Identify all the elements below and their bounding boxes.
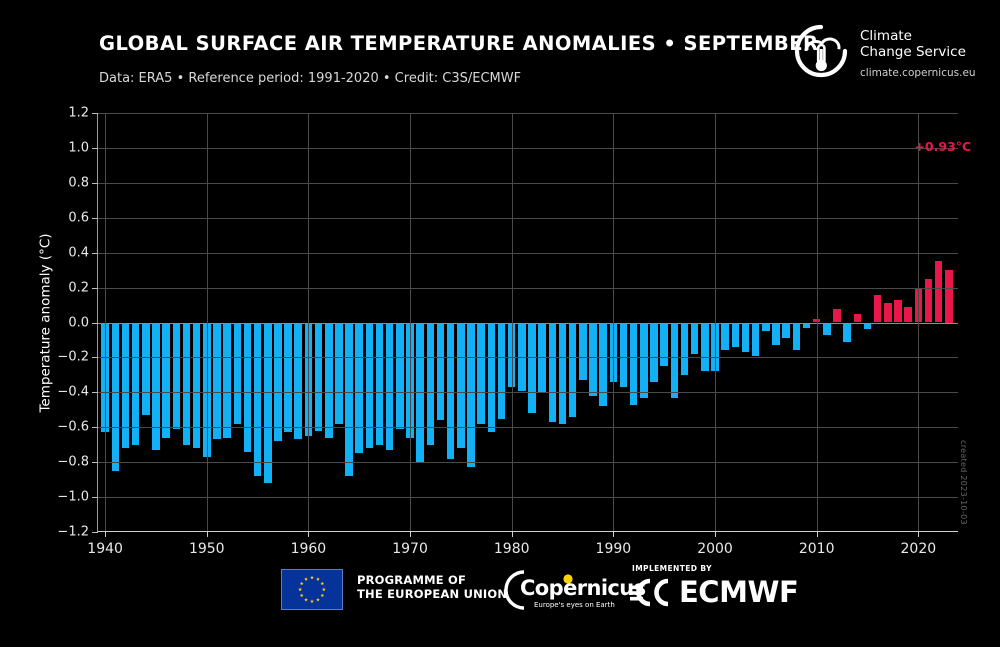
- bar-1995: [660, 323, 668, 367]
- x-tick-label: 1990: [596, 541, 632, 557]
- bar-1945: [152, 323, 160, 450]
- bar-1978: [488, 323, 496, 433]
- bar-1944: [142, 323, 150, 416]
- x-tick-mark: [207, 531, 208, 537]
- y-tick-mark: [92, 288, 98, 289]
- bar-1996: [671, 323, 679, 398]
- bar-1989: [599, 323, 607, 407]
- bar-1962: [325, 323, 333, 438]
- bar-1949: [193, 323, 201, 449]
- bar-2006: [772, 323, 780, 346]
- y-gridline: [98, 427, 958, 428]
- bar-1942: [122, 323, 130, 449]
- x-tick-mark: [613, 531, 614, 537]
- y-tick-label: −0.6: [57, 420, 89, 435]
- y-tick-mark: [92, 218, 98, 219]
- bar-2015: [864, 323, 872, 330]
- bar-2017: [884, 303, 892, 322]
- y-tick-mark: [92, 427, 98, 428]
- bar-1961: [315, 323, 323, 431]
- y-gridline: [98, 113, 958, 114]
- x-gridline: [613, 113, 614, 531]
- y-gridline: [98, 183, 958, 184]
- y-tick-mark: [92, 392, 98, 393]
- bar-1986: [569, 323, 577, 417]
- bar-1957: [274, 323, 282, 442]
- x-tick-label: 2000: [697, 541, 733, 557]
- y-tick-mark: [92, 532, 98, 533]
- x-tick-mark: [512, 531, 513, 537]
- bar-2019: [904, 307, 912, 323]
- eu-programme-line2: THE EUROPEAN UNION: [357, 587, 507, 601]
- c3s-logo-line1: Climate: [860, 28, 966, 44]
- y-gridline: [98, 392, 958, 393]
- eu-stars-icon: [282, 570, 342, 609]
- y-gridline: [98, 462, 958, 463]
- bar-2002: [732, 323, 740, 347]
- x-gridline: [105, 113, 106, 531]
- bar-1994: [650, 323, 658, 382]
- created-stamp: created 2023-10-03: [959, 440, 968, 525]
- x-tick-label: 2020: [901, 541, 937, 557]
- eu-programme-line1: PROGRAMME OF: [357, 573, 507, 587]
- y-tick-mark: [92, 253, 98, 254]
- climate-anomaly-chart: GLOBAL SURFACE AIR TEMPERATURE ANOMALIES…: [0, 0, 1000, 647]
- x-gridline: [512, 113, 513, 531]
- y-tick-label: −0.2: [57, 350, 89, 365]
- x-gridline: [817, 113, 818, 531]
- page-title: GLOBAL SURFACE AIR TEMPERATURE ANOMALIES…: [99, 32, 818, 55]
- y-tick-label: 0.6: [68, 210, 89, 225]
- bar-2001: [721, 323, 729, 351]
- bar-2012: [833, 309, 841, 323]
- plot-area: 1.21.00.80.60.40.20.0−0.2−0.4−0.6−0.8−1.…: [97, 113, 958, 532]
- chart-subtitle: Data: ERA5 • Reference period: 1991-2020…: [99, 71, 521, 86]
- bar-1946: [162, 323, 170, 438]
- bar-1997: [681, 323, 689, 375]
- bar-2018: [894, 300, 902, 323]
- cloud-thermometer-icon: [790, 20, 852, 82]
- bar-1984: [549, 323, 557, 423]
- bar-1987: [579, 323, 587, 381]
- bar-1975: [457, 323, 465, 449]
- bar-1963: [335, 323, 343, 424]
- eu-programme-text: PROGRAMME OF THE EUROPEAN UNION: [357, 573, 507, 601]
- bar-1959: [294, 323, 302, 440]
- y-tick-mark: [92, 183, 98, 184]
- ecmwf-mark-icon: [630, 577, 676, 608]
- x-tick-label: 2010: [799, 541, 835, 557]
- bar-2011: [823, 323, 831, 335]
- eu-flag-icon: [281, 569, 343, 610]
- bar-2004: [752, 323, 760, 356]
- bar-1952: [223, 323, 231, 438]
- y-tick-label: −1.0: [57, 490, 89, 505]
- bar-1947: [173, 323, 181, 429]
- x-gridline: [918, 113, 919, 531]
- y-tick-mark: [92, 323, 98, 324]
- bar-2005: [762, 323, 770, 332]
- x-gridline: [207, 113, 208, 531]
- bar-2008: [793, 323, 801, 351]
- bar-1976: [467, 323, 475, 468]
- y-tick-label: −0.4: [57, 385, 89, 400]
- bar-1964: [345, 323, 353, 477]
- x-tick-mark: [715, 531, 716, 537]
- x-tick-label: 1980: [494, 541, 530, 557]
- bar-2023: [945, 270, 953, 322]
- y-gridline: [98, 253, 958, 254]
- bar-1968: [386, 323, 394, 450]
- y-gridline: [98, 288, 958, 289]
- y-gridline: [98, 323, 958, 324]
- ecmwf-row: ECMWF: [630, 575, 798, 609]
- copernicus-name: Copernicus: [520, 576, 646, 600]
- x-gridline: [715, 113, 716, 531]
- x-tick-mark: [105, 531, 106, 537]
- y-tick-mark: [92, 113, 98, 114]
- y-tick-label: 0.8: [68, 175, 89, 190]
- bar-1988: [589, 323, 597, 396]
- c3s-logo-url: climate.copernicus.eu: [860, 67, 976, 79]
- peak-annotation: +0.93°C: [914, 139, 971, 154]
- bar-1991: [620, 323, 628, 388]
- y-tick-mark: [92, 497, 98, 498]
- x-gridline: [308, 113, 309, 531]
- x-tick-mark: [918, 531, 919, 537]
- c3s-logo: Climate Change Service climate.copernicu…: [790, 20, 990, 92]
- y-tick-label: −1.2: [57, 525, 89, 540]
- bar-1966: [366, 323, 374, 449]
- y-tick-label: 0.0: [68, 315, 89, 330]
- implemented-by-label: IMPLEMENTED BY: [632, 564, 798, 573]
- bar-1993: [640, 323, 648, 398]
- bar-2014: [854, 314, 862, 323]
- x-tick-label: 1950: [189, 541, 225, 557]
- y-tick-mark: [92, 148, 98, 149]
- bar-1958: [284, 323, 292, 433]
- y-tick-mark: [92, 462, 98, 463]
- bar-1979: [498, 323, 506, 419]
- bar-1982: [528, 323, 536, 414]
- bar-1974: [447, 323, 455, 459]
- y-gridline: [98, 497, 958, 498]
- y-axis-label: Temperature anomaly (°C): [36, 113, 56, 532]
- copernicus-tagline: Europe's eyes on Earth: [534, 601, 615, 609]
- x-tick-label: 1970: [392, 541, 428, 557]
- x-tick-mark: [817, 531, 818, 537]
- bar-1956: [264, 323, 272, 484]
- bar-2022: [935, 261, 943, 322]
- x-gridline: [410, 113, 411, 531]
- bar-1954: [244, 323, 252, 452]
- bar-1953: [234, 323, 242, 424]
- y-axis-label-text: Temperature anomaly (°C): [38, 233, 54, 412]
- bar-2003: [742, 323, 750, 353]
- y-gridline: [98, 148, 958, 149]
- bar-1951: [213, 323, 221, 440]
- y-tick-label: 0.2: [68, 280, 89, 295]
- footer: PROGRAMME OF THE EUROPEAN UNION Copernic…: [0, 562, 1000, 614]
- x-tick-label: 1940: [87, 541, 123, 557]
- bar-2021: [925, 279, 933, 323]
- bar-1973: [437, 323, 445, 421]
- ecmwf-logo: IMPLEMENTED BY ECMWF: [630, 564, 798, 609]
- bar-1969: [396, 323, 404, 429]
- c3s-logo-line2: Change Service: [860, 44, 966, 60]
- bar-1977: [477, 323, 485, 424]
- ecmwf-name: ECMWF: [679, 575, 798, 609]
- bar-1955: [254, 323, 262, 477]
- y-tick-label: 1.0: [68, 140, 89, 155]
- y-tick-label: −0.8: [57, 455, 89, 470]
- x-tick-mark: [410, 531, 411, 537]
- y-gridline: [98, 357, 958, 358]
- bar-1998: [691, 323, 699, 354]
- bar-1941: [112, 323, 120, 471]
- copernicus-logo: Copernicus Europe's eyes on Earth: [498, 568, 616, 612]
- bar-1965: [355, 323, 363, 454]
- y-tick-label: 0.4: [68, 245, 89, 260]
- y-tick-mark: [92, 357, 98, 358]
- x-tick-mark: [308, 531, 309, 537]
- y-gridline: [98, 218, 958, 219]
- bar-1985: [559, 323, 567, 424]
- x-tick-label: 1960: [291, 541, 327, 557]
- y-tick-label: 1.2: [68, 106, 89, 121]
- c3s-logo-text: Climate Change Service: [860, 28, 966, 60]
- bar-2013: [843, 323, 851, 342]
- bar-2016: [874, 295, 882, 323]
- bar-2007: [782, 323, 790, 339]
- bar-1999: [701, 323, 709, 372]
